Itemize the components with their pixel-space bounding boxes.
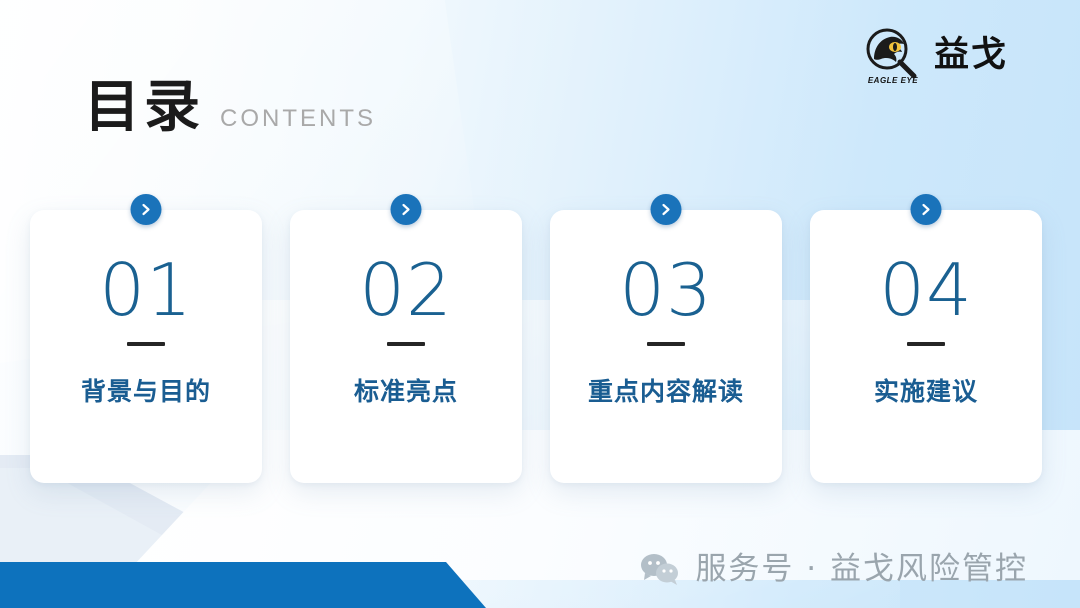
card-divider bbox=[387, 342, 425, 346]
card-body[interactable]: 03 重点内容解读 bbox=[550, 210, 782, 483]
card-body[interactable]: 01 背景与目的 bbox=[30, 210, 262, 483]
card-title: 重点内容解读 bbox=[588, 378, 744, 406]
page-title: 目录 CONTENTS bbox=[84, 80, 376, 136]
card-divider bbox=[907, 342, 945, 346]
chevron-right-icon[interactable] bbox=[131, 194, 162, 225]
page-title-cn: 目录 bbox=[84, 80, 204, 136]
logo-brand-name: 益戈 bbox=[934, 38, 1008, 73]
card-number: 03 bbox=[619, 254, 713, 326]
contents-card-01[interactable]: 01 背景与目的 bbox=[30, 210, 262, 483]
background-wedge-shape-secondary bbox=[0, 468, 240, 578]
card-body[interactable]: 04 实施建议 bbox=[810, 210, 1042, 483]
card-title: 实施建议 bbox=[874, 378, 978, 406]
footer-account: 服务号 · 益戈风险管控 bbox=[639, 552, 1028, 586]
card-number: 04 bbox=[879, 254, 973, 326]
card-title: 背景与目的 bbox=[81, 378, 211, 406]
logo-eagle-eye-text: EAGLE EYE bbox=[862, 76, 924, 85]
card-divider bbox=[127, 342, 165, 346]
chevron-right-icon[interactable] bbox=[911, 194, 942, 225]
wechat-icon bbox=[639, 552, 681, 586]
brand-logo: EAGLE EYE 益戈 bbox=[862, 26, 1008, 84]
eagle-eye-magnifier-icon: EAGLE EYE bbox=[862, 26, 924, 84]
contents-card-04[interactable]: 04 实施建议 bbox=[810, 210, 1042, 483]
card-divider bbox=[647, 342, 685, 346]
slide-canvas: EAGLE EYE 益戈 目录 CONTENTS 01 背景与目的 bbox=[0, 0, 1080, 608]
card-title: 标准亮点 bbox=[354, 378, 458, 406]
footer-account-text: 服务号 · 益戈风险管控 bbox=[695, 554, 1028, 585]
contents-card-02[interactable]: 02 标准亮点 bbox=[290, 210, 522, 483]
card-number: 02 bbox=[359, 254, 453, 326]
bottom-blue-band bbox=[0, 562, 486, 608]
contents-card-03[interactable]: 03 重点内容解读 bbox=[550, 210, 782, 483]
contents-card-list: 01 背景与目的 02 标准亮点 bbox=[30, 210, 1042, 483]
chevron-right-icon[interactable] bbox=[391, 194, 422, 225]
page-title-en: CONTENTS bbox=[220, 107, 376, 136]
card-body[interactable]: 02 标准亮点 bbox=[290, 210, 522, 483]
chevron-right-icon[interactable] bbox=[651, 194, 682, 225]
card-number: 01 bbox=[99, 254, 193, 326]
